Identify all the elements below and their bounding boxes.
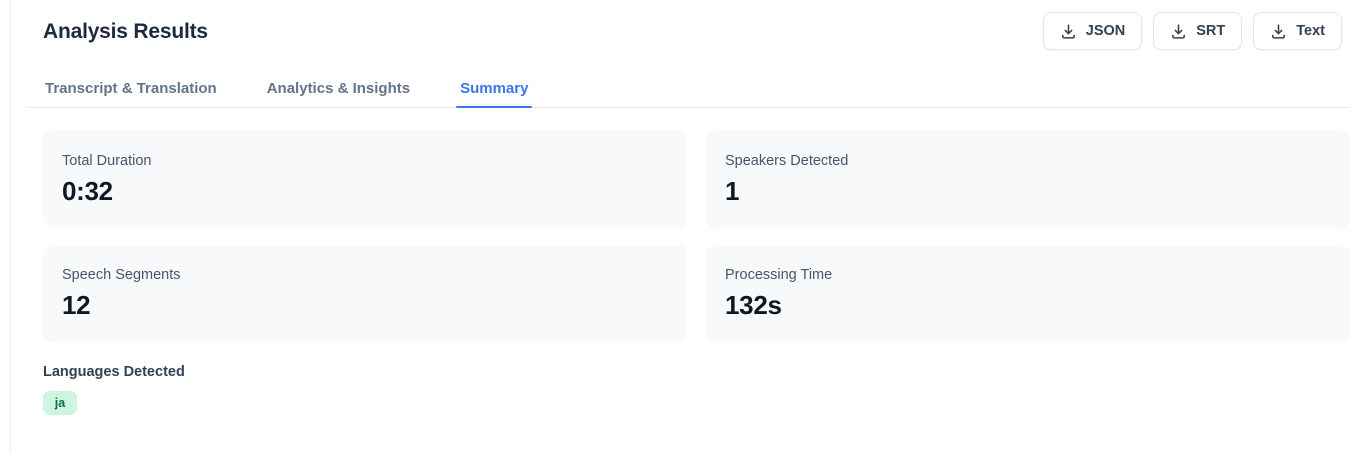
languages-detected-list: ja	[43, 391, 1350, 415]
stat-value: 1	[725, 177, 1330, 206]
stat-value: 132s	[725, 291, 1330, 320]
stat-card-speakers-detected: Speakers Detected 1	[706, 131, 1350, 228]
panel-header: Analysis Results JSON	[27, 0, 1350, 62]
stat-label: Speech Segments	[62, 267, 667, 284]
download-icon	[1060, 23, 1077, 40]
analysis-results-page: Analysis Results JSON	[0, 0, 1366, 453]
download-json-label: JSON	[1086, 23, 1126, 39]
stat-card-processing-time: Processing Time 132s	[706, 245, 1350, 342]
download-text-button[interactable]: Text	[1253, 12, 1342, 50]
download-icon	[1170, 23, 1187, 40]
results-panel: Analysis Results JSON	[10, 0, 1366, 453]
download-json-button[interactable]: JSON	[1043, 12, 1143, 50]
tab-transcript-translation[interactable]: Transcript & Translation	[43, 81, 219, 107]
page-title: Analysis Results	[43, 21, 208, 42]
download-icon	[1270, 23, 1287, 40]
stat-label: Processing Time	[725, 267, 1330, 284]
download-srt-button[interactable]: SRT	[1153, 12, 1242, 50]
stat-label: Total Duration	[62, 153, 667, 170]
stat-card-total-duration: Total Duration 0:32	[43, 131, 687, 228]
download-text-label: Text	[1296, 23, 1325, 39]
summary-stats-grid: Total Duration 0:32 Speakers Detected 1 …	[27, 108, 1350, 342]
stat-card-speech-segments: Speech Segments 12	[43, 245, 687, 342]
download-srt-label: SRT	[1196, 23, 1225, 39]
languages-detected-section: Languages Detected ja	[27, 342, 1350, 415]
export-actions: JSON SRT	[1043, 12, 1342, 50]
stat-value: 0:32	[62, 177, 667, 206]
languages-detected-title: Languages Detected	[43, 364, 1350, 381]
stat-value: 12	[62, 291, 667, 320]
tab-summary[interactable]: Summary	[458, 81, 530, 107]
tab-bar: Transcript & Translation Analytics & Ins…	[27, 62, 1350, 108]
stat-label: Speakers Detected	[725, 153, 1330, 170]
language-badge: ja	[43, 391, 77, 415]
tab-analytics-insights[interactable]: Analytics & Insights	[265, 81, 412, 107]
